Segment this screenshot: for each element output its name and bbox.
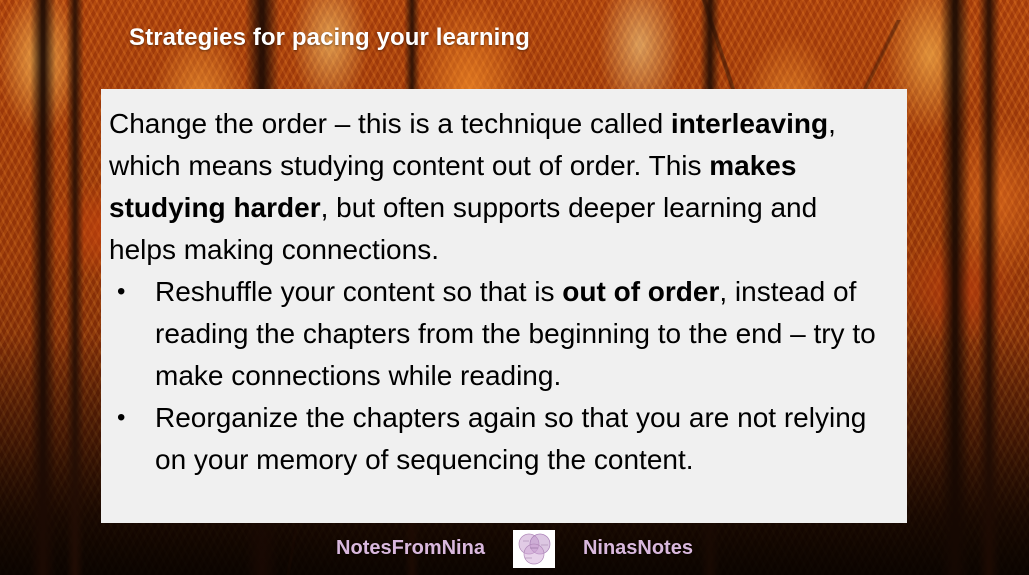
slide: Strategies for pacing your learning Chan…	[0, 0, 1029, 575]
bullet-1-bold-out-of-order: out of order	[562, 276, 719, 307]
venn-diagram-logo-icon	[513, 530, 555, 568]
bullet-1-segment-1: Reshuffle your content so that is	[155, 276, 562, 307]
slide-title: Strategies for pacing your learning	[129, 24, 530, 52]
bullet-marker-icon: •	[117, 271, 125, 313]
bullet-list: •Reshuffle your content so that is out o…	[109, 271, 889, 481]
paragraph-bold-interleaving: interleaving	[671, 108, 828, 139]
footer-handle-right: NinasNotes	[583, 537, 693, 560]
list-item: •Reshuffle your content so that is out o…	[109, 271, 889, 397]
footer-handle-left: NotesFromNina	[336, 537, 485, 560]
bullet-marker-icon: •	[117, 397, 125, 439]
paragraph-segment-1: Change the order – this is a technique c…	[109, 108, 671, 139]
footer: NotesFromNina NinasNotes	[0, 522, 1029, 575]
bullet-2-segment-1: Reorganize the chapters again so that yo…	[155, 402, 866, 475]
list-item: •Reorganize the chapters again so that y…	[109, 397, 889, 481]
content-card: Change the order – this is a technique c…	[101, 89, 907, 523]
intro-paragraph: Change the order – this is a technique c…	[109, 103, 889, 271]
